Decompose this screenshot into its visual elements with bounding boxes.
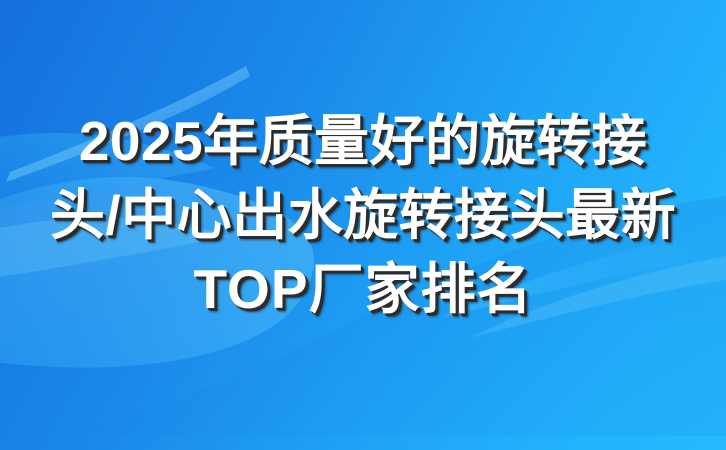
title-line-3: TOP厂家排名 xyxy=(0,252,726,326)
promo-banner: 2025年质量好的旋转接 头/中心出水旋转接头最新 TOP厂家排名 xyxy=(0,0,726,450)
title-line-1: 2025年质量好的旋转接 xyxy=(0,104,726,178)
title-line-2: 头/中心出水旋转接头最新 xyxy=(0,178,726,252)
banner-title: 2025年质量好的旋转接 头/中心出水旋转接头最新 TOP厂家排名 xyxy=(0,104,726,326)
